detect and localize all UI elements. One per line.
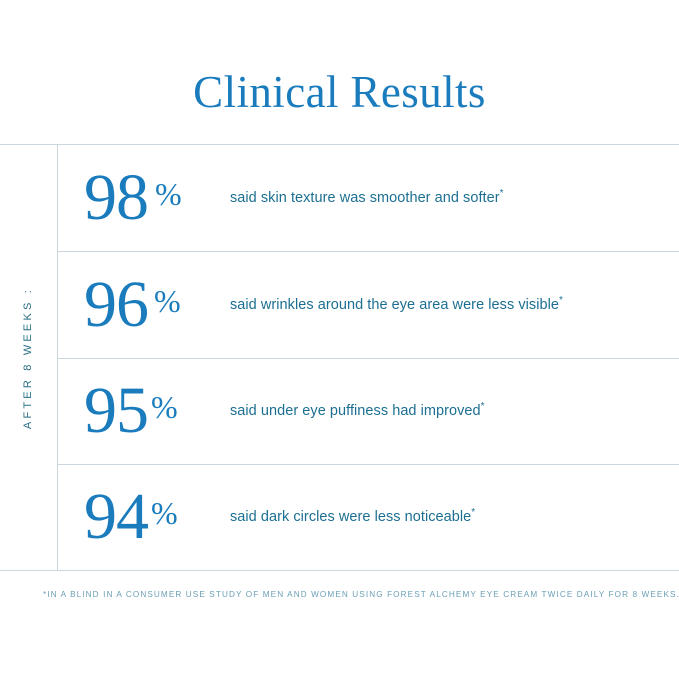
percent-sign: % [155,178,182,210]
footnote-text: *IN A BLIND IN A CONSUMER USE STUDY OF M… [43,589,663,601]
stat-description-text: said skin texture was smoother and softe… [230,190,500,206]
footnote-marker: * [500,188,504,199]
side-label: AFTER 8 WEEKS : [0,144,57,571]
percent-sign: % [151,497,178,529]
percent-sign: % [154,285,181,317]
stat-number: 96 [84,272,148,338]
stat-row: 96 % said wrinkles around the eye area w… [58,251,679,357]
stat-value: 98 % [58,165,230,231]
stat-number: 95 [84,378,148,444]
divider-bottom [0,570,679,571]
stat-description: said wrinkles around the eye area were l… [230,295,679,315]
stat-row: 94 % said dark circles were less noticea… [58,464,679,570]
footnote-marker: * [471,508,475,519]
side-label-text: AFTER 8 WEEKS : [23,286,35,428]
stat-description-text: said under eye puffiness had improved [230,403,481,419]
footnote-marker: * [559,295,563,306]
clinical-results-infographic: Clinical Results AFTER 8 WEEKS : 98 % sa… [0,0,679,679]
stat-row: 95 % said under eye puffiness had improv… [58,358,679,464]
stat-value: 94 % [58,484,230,550]
footnote-marker: * [481,401,485,412]
stat-value: 95 % [58,378,230,444]
page-title: Clinical Results [0,66,679,118]
percent-sign: % [151,391,178,423]
stat-number: 94 [84,484,148,550]
stat-description: said under eye puffiness had improved* [230,401,679,421]
stat-number: 98 [84,165,148,231]
stat-value: 96 % [58,272,230,338]
stat-description-text: said dark circles were less noticeable [230,509,471,525]
stat-row: 98 % said skin texture was smoother and … [58,145,679,251]
stat-description-text: said wrinkles around the eye area were l… [230,297,559,313]
stat-rows: 98 % said skin texture was smoother and … [58,145,679,570]
stat-description: said dark circles were less noticeable* [230,507,679,527]
stat-description: said skin texture was smoother and softe… [230,188,679,208]
